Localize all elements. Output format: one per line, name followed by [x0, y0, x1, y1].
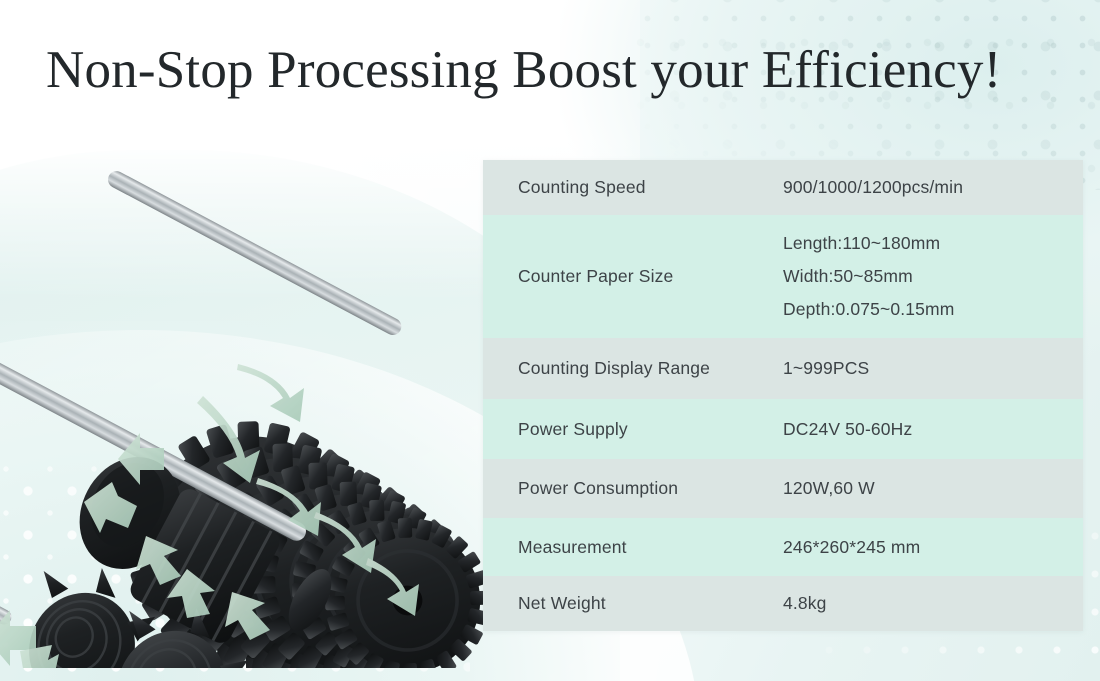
spec-label: Counter Paper Size — [483, 266, 783, 287]
spec-value-line: DC24V 50-60Hz — [783, 419, 1067, 440]
spec-label: Measurement — [483, 537, 783, 558]
spec-value: 4.8kg — [783, 593, 1083, 614]
spec-value-line: Width:50~85mm — [783, 266, 1067, 287]
table-row: Measurement 246*260*245 mm — [483, 518, 1083, 576]
spec-value: 900/1000/1200pcs/min — [783, 177, 1083, 198]
table-row: Net Weight 4.8kg — [483, 576, 1083, 631]
spec-value: 246*260*245 mm — [783, 537, 1083, 558]
table-row: Counting Display Range 1~999PCS — [483, 338, 1083, 399]
spec-label: Power Supply — [483, 419, 783, 440]
table-row: Power Consumption 120W,60 W — [483, 459, 1083, 518]
spec-value: DC24V 50-60Hz — [783, 419, 1083, 440]
table-row: Power Supply DC24V 50-60Hz — [483, 399, 1083, 459]
spec-value: Length:110~180mm Width:50~85mm Depth:0.0… — [783, 233, 1083, 320]
table-row: Counting Speed 900/1000/1200pcs/min — [483, 160, 1083, 215]
page-title: Non-Stop Processing Boost your Efficienc… — [46, 40, 1001, 101]
spec-value-line: Depth:0.075~0.15mm — [783, 299, 1067, 320]
poster-canvas: Non-Stop Processing Boost your Efficienc… — [0, 0, 1100, 681]
spec-value-line: 1~999PCS — [783, 358, 1067, 379]
table-row: Counter Paper Size Length:110~180mm Widt… — [483, 215, 1083, 338]
spec-value-line: 900/1000/1200pcs/min — [783, 177, 1067, 198]
spec-value-line: 120W,60 W — [783, 478, 1067, 499]
spec-label: Power Consumption — [483, 478, 783, 499]
spec-value: 1~999PCS — [783, 358, 1083, 379]
spec-value-line: 4.8kg — [783, 593, 1067, 614]
gear-shaft-assembly-illustration — [0, 148, 490, 668]
spec-value-line: Length:110~180mm — [783, 233, 1067, 254]
specifications-table: Counting Speed 900/1000/1200pcs/min Coun… — [483, 160, 1083, 631]
spec-value: 120W,60 W — [783, 478, 1083, 499]
spec-label: Net Weight — [483, 593, 783, 614]
spec-label: Counting Speed — [483, 177, 783, 198]
spec-value-line: 246*260*245 mm — [783, 537, 1067, 558]
spec-label: Counting Display Range — [483, 358, 783, 379]
